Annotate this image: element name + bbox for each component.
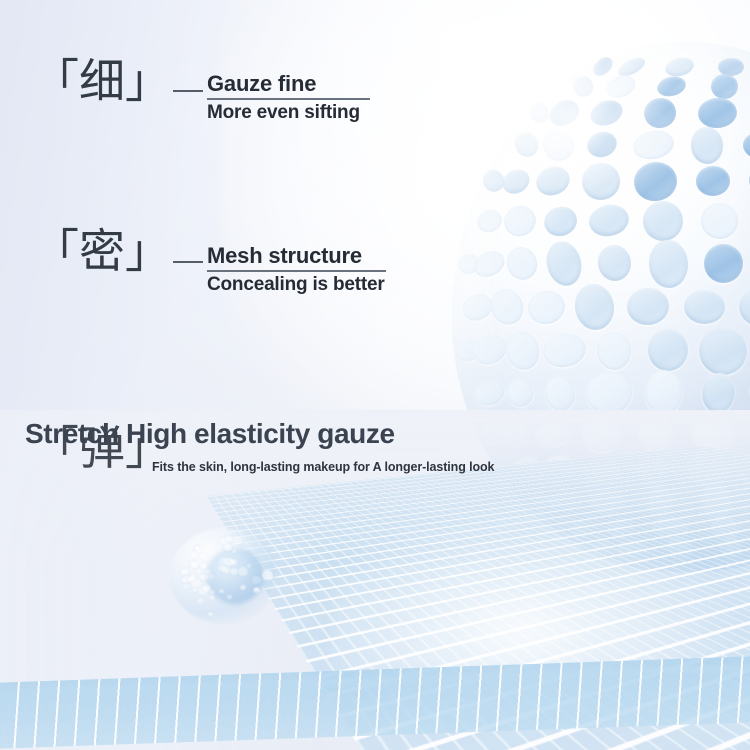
small-mesh-sphere-dots (170, 528, 278, 624)
product-feature-poster: 「细」 Gauze fine More even sifting 「密」 Mes… (0, 0, 750, 750)
feature-item-dense: 「密」 Mesh structure Concealing is better (33, 228, 386, 295)
feature-labels-dense: Mesh structure Concealing is better (207, 244, 386, 295)
feature-divider-dense (207, 270, 386, 272)
feature-bracket-dense: 「密」 (33, 228, 171, 274)
feature-divider-fine (207, 98, 370, 100)
feature-title-stretch: Stretch High elasticity gauze (25, 420, 395, 448)
feature-subtitle-fine: More even sifting (207, 103, 370, 123)
feature-bracket-fine: 「细」 (33, 58, 171, 104)
feature-title-dense: Mesh structure (207, 244, 386, 267)
sphere-highlight (492, 64, 682, 204)
feature-labels-fine: Gauze fine More even sifting (207, 72, 370, 123)
feature-title-fine: Gauze fine (207, 72, 370, 95)
feature-connector-line-fine (173, 90, 203, 92)
feature-subtitle-stretch: Fits the skin, long-lasting makeup for A… (152, 461, 494, 474)
feature-connector-line-dense (173, 261, 203, 263)
feature-item-fine: 「细」 Gauze fine More even sifting (33, 58, 370, 123)
feature-subtitle-dense: Concealing is better (207, 275, 386, 295)
